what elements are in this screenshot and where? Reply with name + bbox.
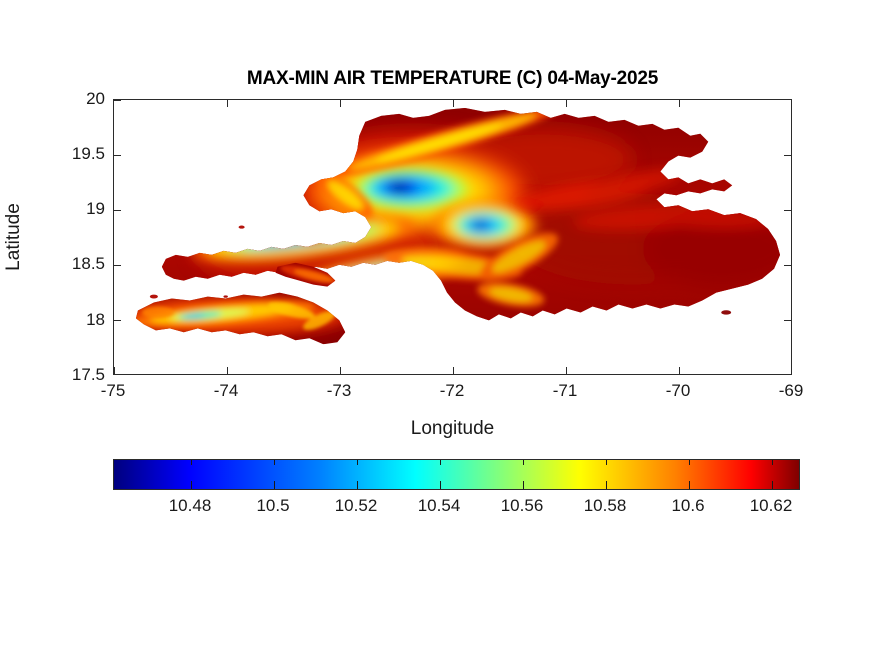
xtick-label-4: -71: [553, 381, 578, 401]
colorbar-tick: [274, 481, 275, 489]
y-axis-label: Latitude: [3, 203, 25, 271]
xtick-mark: [453, 367, 454, 374]
ytick-label-3-text: 19: [86, 199, 105, 219]
ytick-mark-right: [784, 155, 791, 156]
colorbar-label-2: 10.52: [335, 496, 378, 516]
xtick-mark: [227, 367, 228, 374]
xtick-mark: [340, 367, 341, 374]
xtick-mark-top: [340, 100, 341, 107]
xtick-mark-top: [566, 100, 567, 107]
ytick-label-5: 20: [105, 89, 124, 109]
colorbar-label-7: 10.62: [750, 496, 793, 516]
ytick-label-1: 18: [105, 310, 124, 330]
colorbar-tick: [440, 481, 441, 489]
ytick-label-3: 19: [105, 199, 124, 219]
colorbar-label-3: 10.54: [418, 496, 461, 516]
ytick-label-2: 18.5: [105, 254, 138, 274]
ytick-mark-right: [784, 265, 791, 266]
colorbar-label-1: 10.5: [256, 496, 289, 516]
colorbar-gradient: [113, 459, 800, 490]
colorbar-tick-top: [274, 460, 275, 465]
colorbar-tick-top: [523, 460, 524, 465]
page-title: MAX-MIN AIR TEMPERATURE (C) 04-May-2025: [113, 68, 792, 90]
ytick-mark-right: [784, 320, 791, 321]
ytick-label-1-text: 18: [86, 310, 105, 330]
colorbar-tick: [606, 481, 607, 489]
ytick-mark-right: [784, 210, 791, 211]
colorbar-label-0: 10.48: [169, 496, 212, 516]
colorbar-tick: [357, 481, 358, 489]
map-axes[interactable]: [113, 99, 792, 375]
ytick-label-2-text: 18.5: [72, 254, 105, 274]
xtick-mark-top: [227, 100, 228, 107]
colorbar-tick: [772, 481, 773, 489]
colorbar-tick-top: [689, 460, 690, 465]
xtick-label-2: -73: [327, 381, 352, 401]
ytick-label-4-text: 19.5: [72, 144, 105, 164]
ytick-label-5-text: 20: [86, 89, 105, 109]
temperature-heatmap: [114, 100, 791, 374]
xtick-label-1: -74: [214, 381, 239, 401]
colorbar-tick-top: [440, 460, 441, 465]
ytick-label-4: 19.5: [105, 144, 138, 164]
x-axis-label: Longitude: [113, 418, 792, 440]
xtick-label-6: -69: [779, 381, 804, 401]
colorbar-tick: [689, 481, 690, 489]
ytick-label-0-text: 17.5: [72, 365, 105, 385]
xtick-label-5: -70: [666, 381, 691, 401]
xtick-mark: [566, 367, 567, 374]
ytick-label-0: 17.5: [105, 365, 138, 385]
colorbar-label-4: 10.56: [501, 496, 544, 516]
xtick-mark-top: [453, 100, 454, 107]
colorbar-tick: [191, 481, 192, 489]
figure-canvas: MAX-MIN AIR TEMPERATURE (C) 04-May-2025: [0, 0, 875, 656]
xtick-mark-top: [679, 100, 680, 107]
xtick-mark: [679, 367, 680, 374]
xtick-label-3: -72: [440, 381, 465, 401]
colorbar[interactable]: [113, 459, 800, 490]
colorbar-tick-top: [606, 460, 607, 465]
tiburon-peninsula: [114, 279, 373, 368]
colorbar-tick-top: [357, 460, 358, 465]
colorbar-label-6: 10.6: [671, 496, 704, 516]
colorbar-tick: [523, 481, 524, 489]
hispaniola-landmass: [114, 100, 791, 374]
colorbar-tick-top: [191, 460, 192, 465]
colorbar-tick-top: [772, 460, 773, 465]
colorbar-label-5: 10.58: [584, 496, 627, 516]
